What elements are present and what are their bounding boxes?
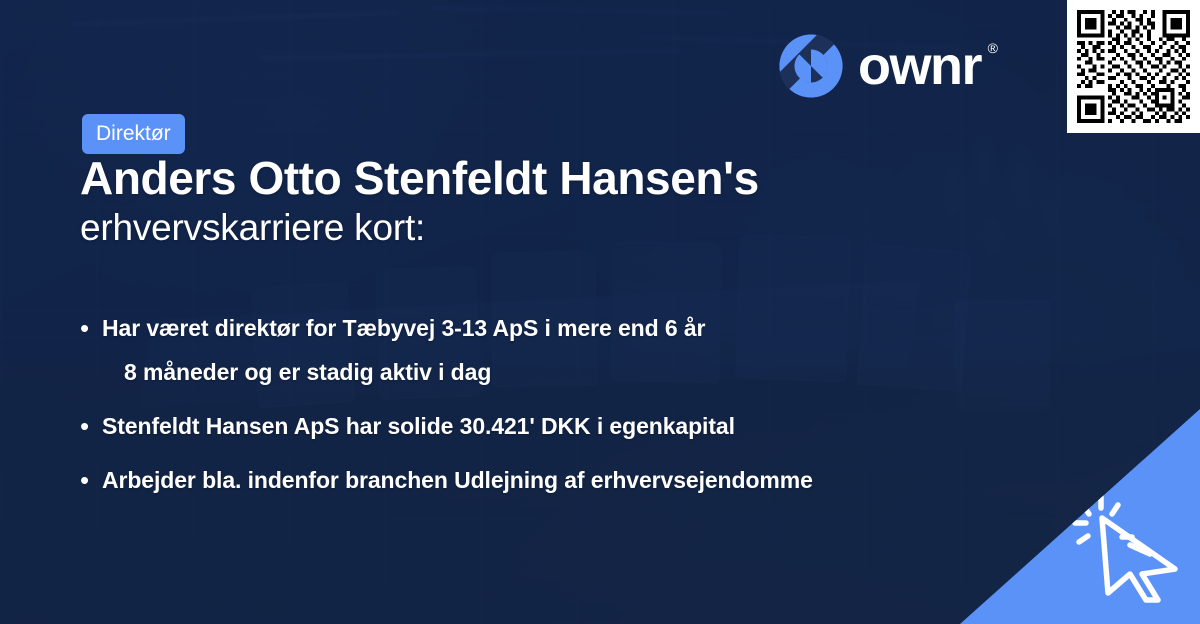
role-badge: Direktør (82, 114, 185, 154)
headline-line-1: Anders Otto Stenfeldt Hansen's (80, 153, 940, 205)
page-title: Anders Otto Stenfeldt Hansen's erhvervsk… (80, 153, 940, 251)
bullet-dot-icon: • (80, 465, 102, 495)
list-item-text-line-2: 8 måneder og er stadig aktiv i dag (102, 357, 705, 387)
ownr-circle-swirl-logo-icon (778, 33, 844, 99)
registered-trademark-icon: ® (988, 41, 998, 55)
career-facts-list: • Har været direktør for Tæbyvej 3-13 Ap… (80, 313, 980, 519)
ownr-logo[interactable]: ownr® (778, 33, 981, 99)
list-item-text: Har været direktør for Tæbyvej 3-13 ApS … (102, 313, 705, 387)
ownr-wordmark: ownr® (858, 39, 981, 93)
list-item: • Har været direktør for Tæbyvej 3-13 Ap… (80, 313, 980, 387)
list-item-text: Arbejder bla. indenfor branchen Udlejnin… (102, 465, 813, 495)
qr-code-icon (1077, 10, 1190, 123)
list-item: • Arbejder bla. indenfor branchen Udlejn… (80, 465, 980, 495)
background-overlay-tint (0, 0, 1200, 624)
headline-line-2: erhvervskarriere kort: (80, 205, 940, 251)
list-item: • Stenfeldt Hansen ApS har solide 30.421… (80, 411, 980, 441)
bullet-dot-icon: • (80, 313, 102, 343)
qr-code-panel[interactable] (1067, 0, 1200, 133)
bullet-dot-icon: • (80, 411, 102, 441)
list-item-text-line-1: Har været direktør for Tæbyvej 3-13 ApS … (102, 315, 705, 341)
list-item-text: Stenfeldt Hansen ApS har solide 30.421' … (102, 411, 735, 441)
career-card-canvas: ownr® (0, 0, 1200, 624)
brand-name: ownr (858, 36, 981, 96)
